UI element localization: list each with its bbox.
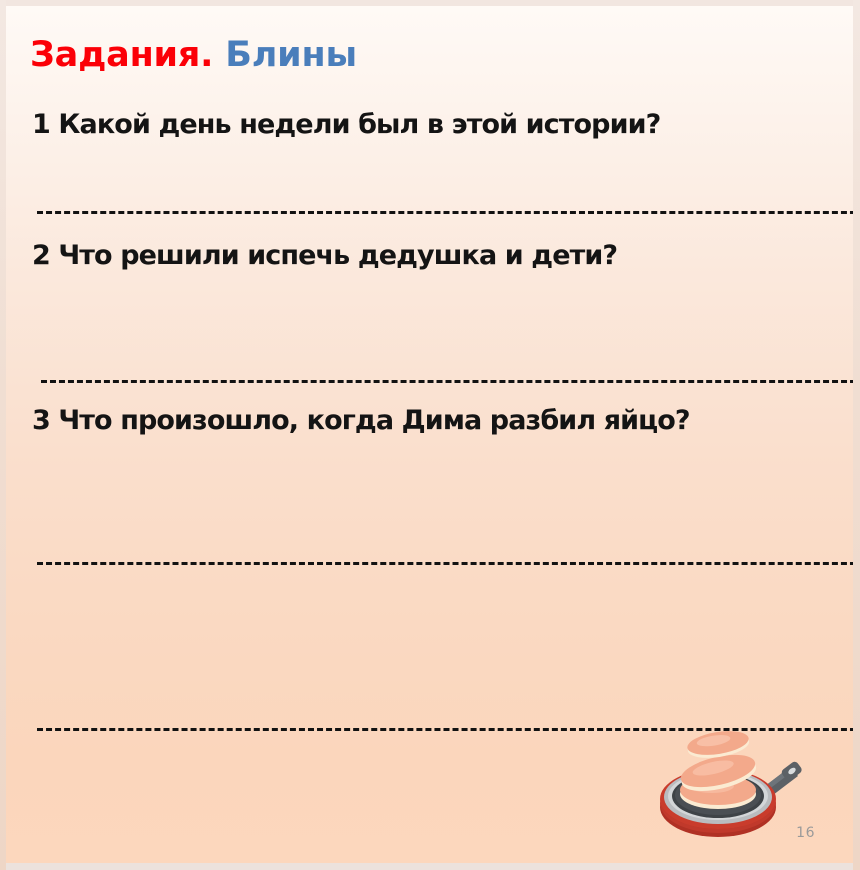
question-3-text: 3 Что произошло, когда Дима разбил яйцо? <box>32 405 690 436</box>
answer-line-3[interactable] <box>37 562 853 565</box>
answer-line-2[interactable] <box>41 380 853 383</box>
frame-edge-left <box>0 0 6 870</box>
frame-edge-right <box>853 0 860 870</box>
frying-pan-icon <box>656 729 816 854</box>
slide-canvas: Задания. Блины 1 Какой день недели был в… <box>6 6 853 863</box>
frame-edge-bottom <box>0 863 860 870</box>
page-title: Задания. Блины <box>30 36 357 75</box>
page-number: 16 <box>796 825 815 841</box>
title-blue-part: Блины <box>225 35 357 75</box>
question-1-text: 1 Какой день недели был в этой истории? <box>32 109 660 140</box>
slide-frame: Задания. Блины 1 Какой день недели был в… <box>0 0 860 870</box>
answer-line-1[interactable] <box>37 211 853 214</box>
title-red-part: Задания. <box>30 35 213 75</box>
question-2-text: 2 Что решили испечь дедушка и дети? <box>32 240 617 271</box>
frame-edge-top <box>0 0 860 6</box>
